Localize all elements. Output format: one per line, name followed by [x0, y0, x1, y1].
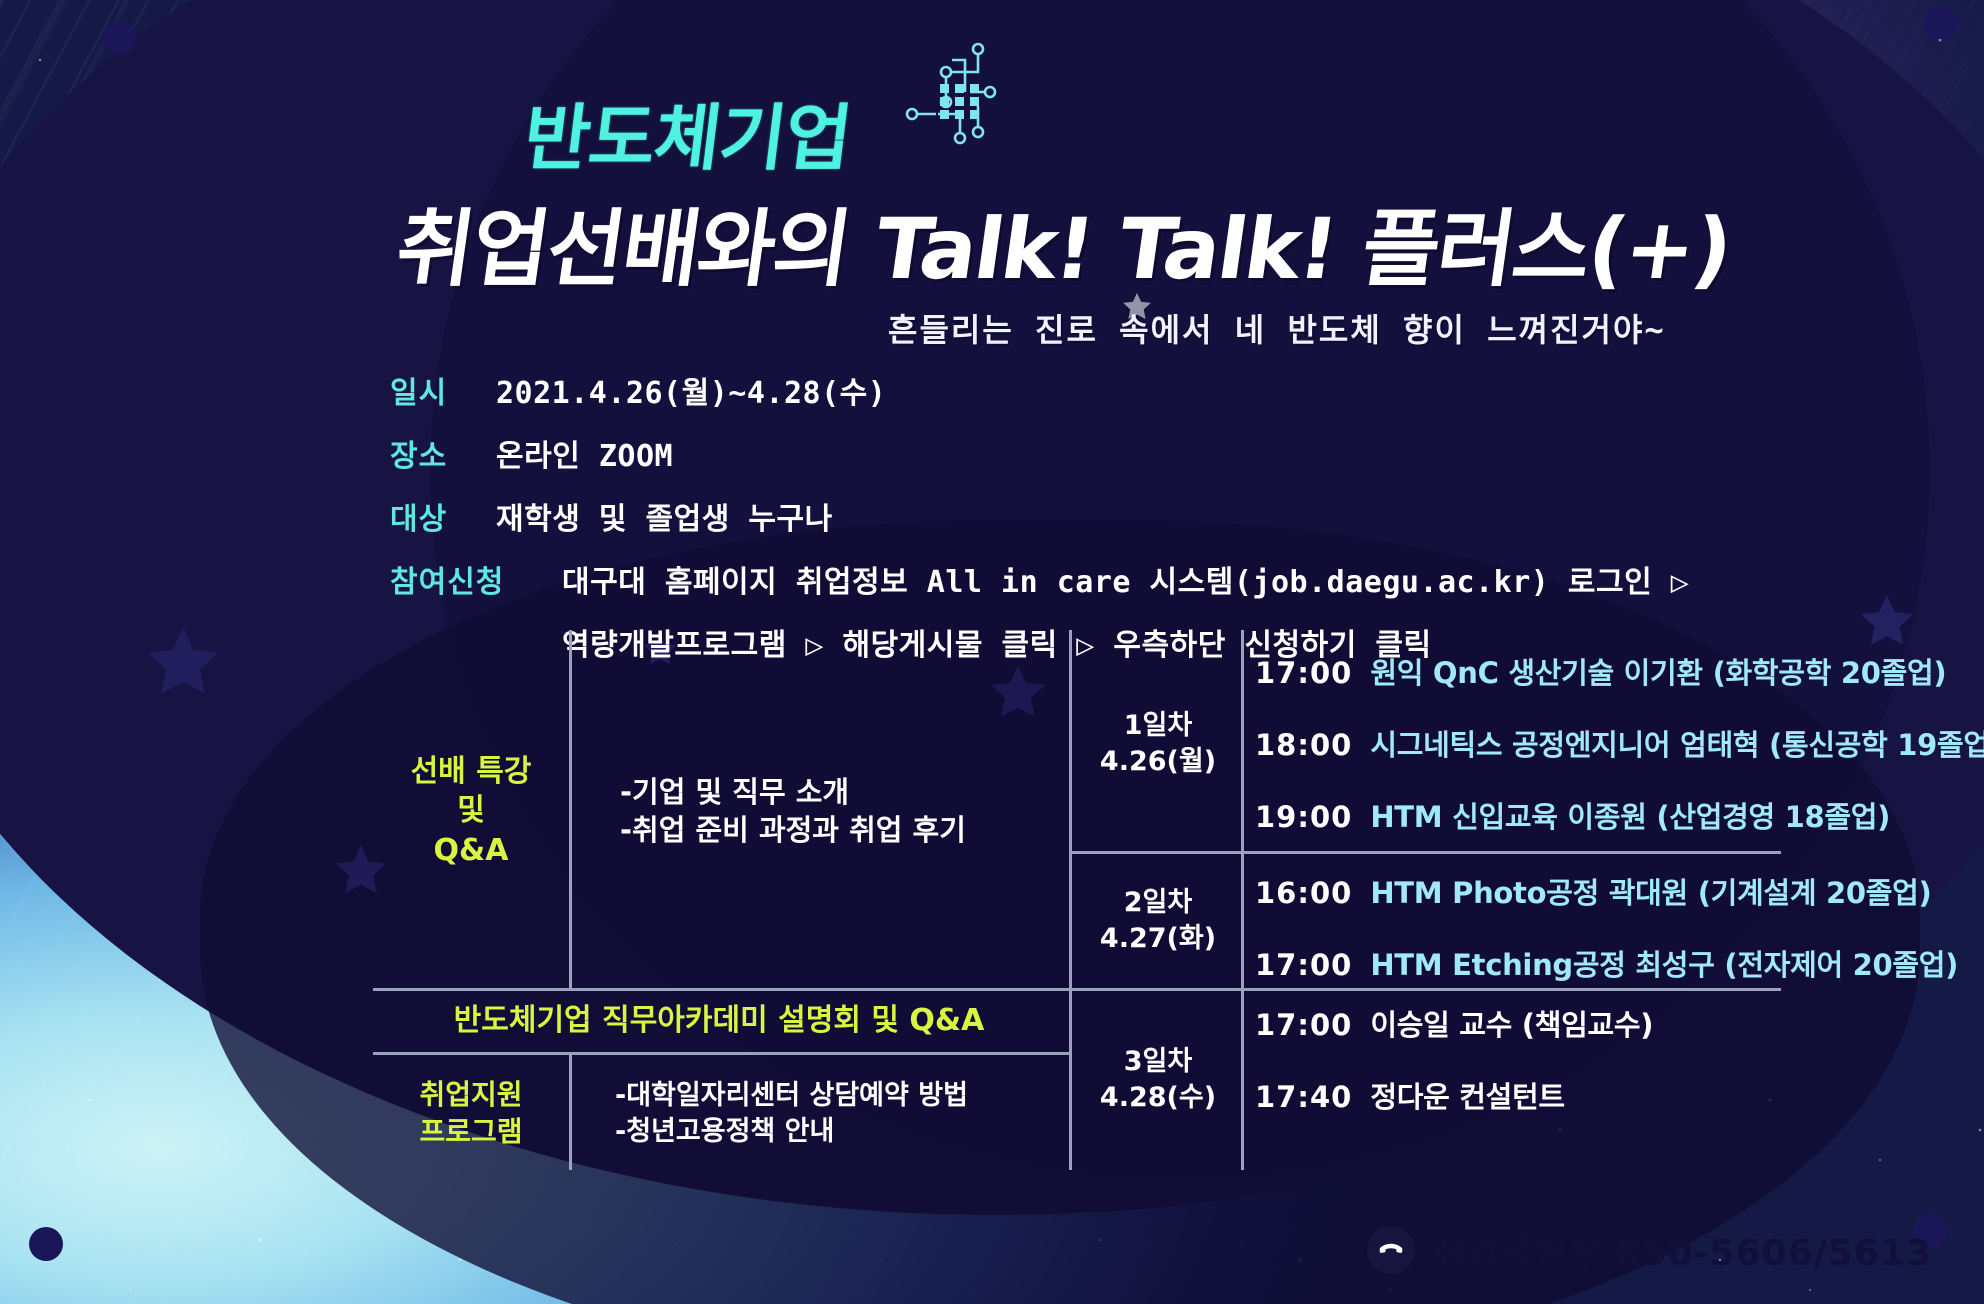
schedule-day-3: 3일차 4.28(수)	[1078, 990, 1238, 1170]
day-2-date: 4.27(화)	[1100, 923, 1216, 954]
info-label-place: 장소	[390, 431, 472, 475]
session-time: 17:00	[1255, 656, 1352, 690]
footer-contact: 취업지원부 850-5606/5613	[1367, 1224, 1932, 1276]
info-row-place: 장소 온라인 ZOOM	[390, 431, 1689, 475]
session-desc: HTM Photo공정 곽대원 (기계설계 20졸업)	[1370, 870, 1931, 912]
session-row: 17:00 원익 QnC 생산기술 이기환 (화학공학 20졸업)	[1255, 650, 1775, 692]
schedule-table: 선배 특강 및 Q&A -기업 및 직무 소개 -취업 준비 과정과 취업 후기…	[373, 630, 1773, 1175]
poster-title-top: 반도체기업	[519, 79, 858, 184]
schedule-category-2: 반도체기업 직무아카데미 설명회 및 Q&A	[373, 992, 1065, 1050]
session-row: 17:00 이승일 교수 (책임교수)	[1255, 1002, 1775, 1044]
day-3-date: 4.28(수)	[1100, 1082, 1216, 1113]
session-row: 17:40 정다운 컨설턴트	[1255, 1074, 1775, 1116]
info-row-apply: 참여신청 대구대 홈페이지 취업정보 All in care 시스템(job.d…	[390, 557, 1689, 601]
schedule-category-3: 취업지원 프로그램	[373, 1058, 569, 1170]
table-divider	[1069, 630, 1072, 1170]
session-time: 18:00	[1255, 728, 1352, 762]
schedule-description-1: -기업 및 직무 소개 -취업 준비 과정과 취업 후기	[585, 636, 1065, 986]
session-time: 17:00	[1255, 948, 1352, 982]
session-time: 16:00	[1255, 876, 1352, 910]
description-3-line-1: -대학일자리센터 상담예약 방법	[615, 1080, 968, 1111]
session-row: 16:00 HTM Photo공정 곽대원 (기계설계 20졸업)	[1255, 870, 1775, 912]
schedule-day-2: 2일차 4.27(화)	[1078, 855, 1238, 987]
category-3-line-1: 취업지원	[419, 1078, 522, 1111]
session-time: 17:00	[1255, 1008, 1352, 1042]
table-divider	[373, 1052, 1069, 1055]
description-1-line-1: -기업 및 직무 소개	[620, 775, 849, 809]
session-row: 18:00 시그네틱스 공정엔지니어 엄태혁 (통신공학 19졸업)	[1255, 722, 1775, 764]
day-2-session-list: 16:00 HTM Photo공정 곽대원 (기계설계 20졸업) 17:00 …	[1255, 870, 1775, 1014]
table-divider	[569, 1054, 572, 1170]
table-divider	[1241, 630, 1244, 1170]
info-value-date: 2021.4.26(월)~4.28(수)	[496, 368, 886, 412]
session-time: 17:40	[1255, 1080, 1352, 1114]
session-row: 19:00 HTM 신입교육 이종원 (산업경영 18졸업)	[1255, 794, 1775, 836]
day-3-session-list: 17:00 이승일 교수 (책임교수) 17:40 정다운 컨설턴트	[1255, 1002, 1775, 1146]
schedule-day-1: 1일차 4.26(월)	[1078, 636, 1238, 852]
phone-icon	[1367, 1226, 1415, 1274]
category-1-line-1: 선배 특강	[411, 754, 532, 789]
session-desc: 이승일 교수 (책임교수)	[1370, 1002, 1653, 1044]
session-desc: HTM 신입교육 이종원 (산업경영 18졸업)	[1370, 794, 1890, 836]
session-desc: 정다운 컨설턴트	[1370, 1074, 1564, 1116]
session-desc: HTM Etching공정 최성구 (전자제어 20졸업)	[1370, 942, 1958, 984]
schedule-description-3: -대학일자리센터 상담예약 방법 -청년고용정책 안내	[585, 1058, 1065, 1170]
table-divider	[569, 630, 572, 990]
day-1-label: 1일차	[1124, 710, 1192, 741]
category-3-line-2: 프로그램	[419, 1115, 522, 1148]
circuit-board-icon	[890, 40, 1000, 145]
poster-root: 반도체기업	[0, 0, 1984, 1304]
info-value-apply: 대구대 홈페이지 취업정보 All in care 시스템(job.daegu.…	[562, 557, 1689, 601]
description-1-line-2: -취업 준비 과정과 취업 후기	[620, 813, 966, 847]
description-3-line-2: -청년고용정책 안내	[615, 1116, 834, 1147]
footer-contact-text: 취업지원부 850-5606/5613	[1431, 1224, 1932, 1276]
info-value-place: 온라인 ZOOM	[496, 431, 673, 475]
info-row-date: 일시 2021.4.26(월)~4.28(수)	[390, 368, 1689, 412]
poster-title-main: 취업선배와의 Talk! Talk! 플러스(+)	[389, 182, 1739, 303]
session-desc: 시그네틱스 공정엔지니어 엄태혁 (통신공학 19졸업)	[1370, 722, 1984, 764]
day-1-date: 4.26(월)	[1100, 746, 1216, 777]
day-3-label: 3일차	[1124, 1046, 1192, 1077]
info-label-date: 일시	[390, 368, 472, 412]
day-1-session-list: 17:00 원익 QnC 생산기술 이기환 (화학공학 20졸업) 18:00 …	[1255, 650, 1775, 866]
category-1-line-2: 및	[457, 793, 485, 828]
info-label-apply: 참여신청	[390, 557, 538, 601]
info-value-audience: 재학생 및 졸업생 누구나	[496, 494, 833, 538]
info-block: 일시 2021.4.26(월)~4.28(수) 장소 온라인 ZOOM 대상 재…	[390, 368, 1689, 664]
day-2-label: 2일차	[1124, 887, 1192, 918]
schedule-category-1: 선배 특강 및 Q&A	[373, 636, 569, 986]
category-1-line-3: Q&A	[434, 833, 509, 868]
info-label-audience: 대상	[390, 494, 472, 538]
session-time: 19:00	[1255, 800, 1352, 834]
session-row: 17:00 HTM Etching공정 최성구 (전자제어 20졸업)	[1255, 942, 1775, 984]
session-desc: 원익 QnC 생산기술 이기환 (화학공학 20졸업)	[1370, 650, 1946, 692]
poster-subtitle: 흔들리는 진로 속에서 네 반도체 향이 느껴진거야~	[888, 305, 1666, 351]
info-row-audience: 대상 재학생 및 졸업생 누구나	[390, 494, 1689, 538]
